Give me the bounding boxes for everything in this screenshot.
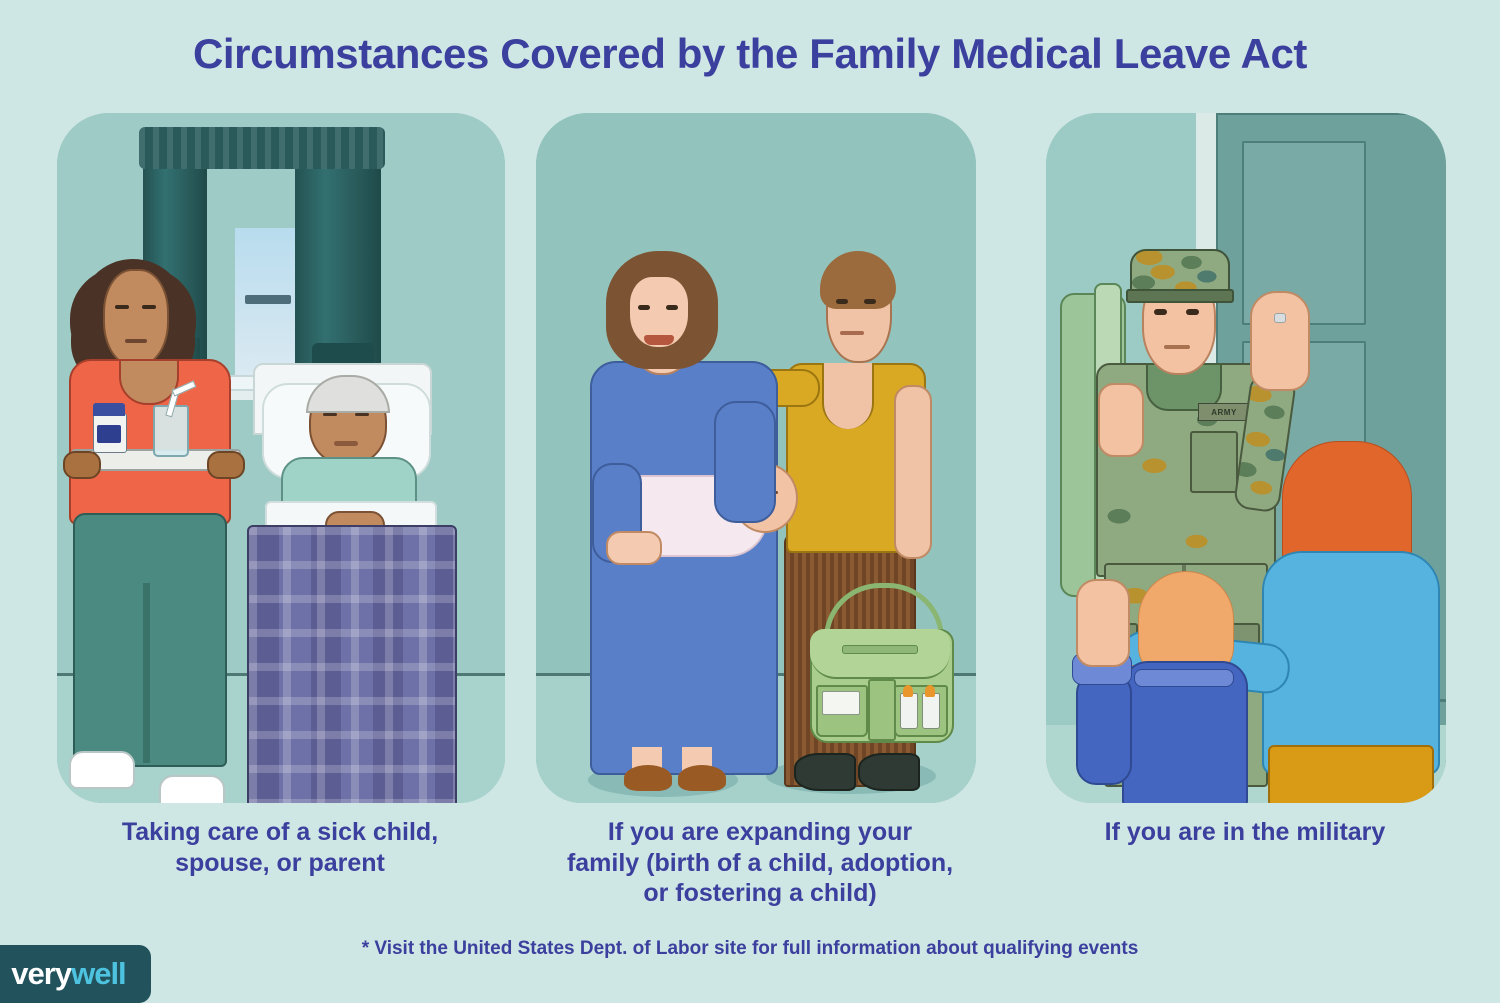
patient-mouth [334,441,358,446]
bag-zipper [842,645,918,654]
caregiver-eye-right [142,305,156,309]
caption-line: If you are expanding your [500,817,1020,848]
woman-hand [606,531,662,565]
army-name-tape: ARMY [1198,403,1250,421]
pants-center-seam [143,583,150,763]
medicine-label [97,425,121,443]
page-title: Circumstances Covered by the Family Medi… [0,30,1500,78]
caregiver-hand-right [207,451,245,479]
man-shoe-left [794,753,856,791]
child-arm-waving [1076,673,1132,785]
caregiver-pants [73,513,227,767]
valance-folds [139,127,385,169]
patient-eye-right [355,413,369,416]
panel-sick-relative [57,113,505,803]
window-object [245,295,291,304]
bag-flap [810,629,950,679]
bag-wipes [822,691,860,715]
footnote: * Visit the United States Dept. of Labor… [0,938,1500,960]
baby-bottle-nipple-right [925,685,935,697]
caption-panel-3: If you are in the military [1010,817,1480,848]
patient-eye-left [323,413,337,416]
caption-line: Taking care of a sick child, [20,817,540,848]
soldier-eye-left [1154,309,1167,315]
cap-brim [1126,289,1234,303]
caption-line: family (birth of a child, adoption, [500,848,1020,879]
woman-mouth [644,335,674,345]
wedding-ring-soldier [1274,313,1286,323]
sneaker-left [69,751,135,789]
man-mouth [840,331,864,335]
woman-shoe-left [624,765,672,791]
bed-quilt [247,525,457,803]
army-name-tape-label: ARMY [1211,408,1237,417]
woman-shoe-right [678,765,726,791]
infographic-canvas: Circumstances Covered by the Family Medi… [0,0,1500,1000]
soldier-mouth [1164,345,1190,349]
caption-panel-1: Taking care of a sick child, spouse, or … [20,817,540,878]
chest-pocket [1190,431,1238,493]
caption-line: or fostering a child) [500,878,1020,909]
soldier-waving-hand [1250,291,1310,391]
baby-bottle-left [900,693,918,729]
soldier-eye-right [1186,309,1199,315]
caption-panel-2: If you are expanding your family (birth … [500,817,1020,909]
caregiver-face [103,269,169,367]
logo-part-very: very [11,956,71,992]
child-collar [1134,669,1234,687]
man-arm-right [894,385,932,559]
woman-eye-right [666,305,678,310]
panel-military: ARMY [1046,113,1446,803]
woman-skirt [1268,745,1434,803]
verywell-logo[interactable]: verywell [0,945,151,1003]
caregiver-hand-left [63,451,101,479]
man-shoe-right [858,753,920,791]
baby-bottle-nipple-left [903,685,913,697]
caregiver-mouth [125,339,147,343]
woman-eye-left [638,305,650,310]
woman-arm-right [714,401,776,523]
soldier-hand-on-strap [1098,383,1144,457]
man-v-neck [822,363,874,429]
caption-line: spouse, or parent [20,848,540,879]
logo-part-well: well [71,956,126,992]
panel-expanding-family [536,113,976,803]
man-eye-right [864,299,876,304]
child-waving-hand [1076,579,1130,667]
baby-bottle-right [922,693,940,729]
bag-center-strap [868,679,896,741]
man-eye-left [836,299,848,304]
medicine-bottle-cap [93,403,125,416]
caption-line: If you are in the military [1010,817,1480,848]
caregiver-eye-left [115,305,129,309]
sneaker-right [159,775,225,803]
